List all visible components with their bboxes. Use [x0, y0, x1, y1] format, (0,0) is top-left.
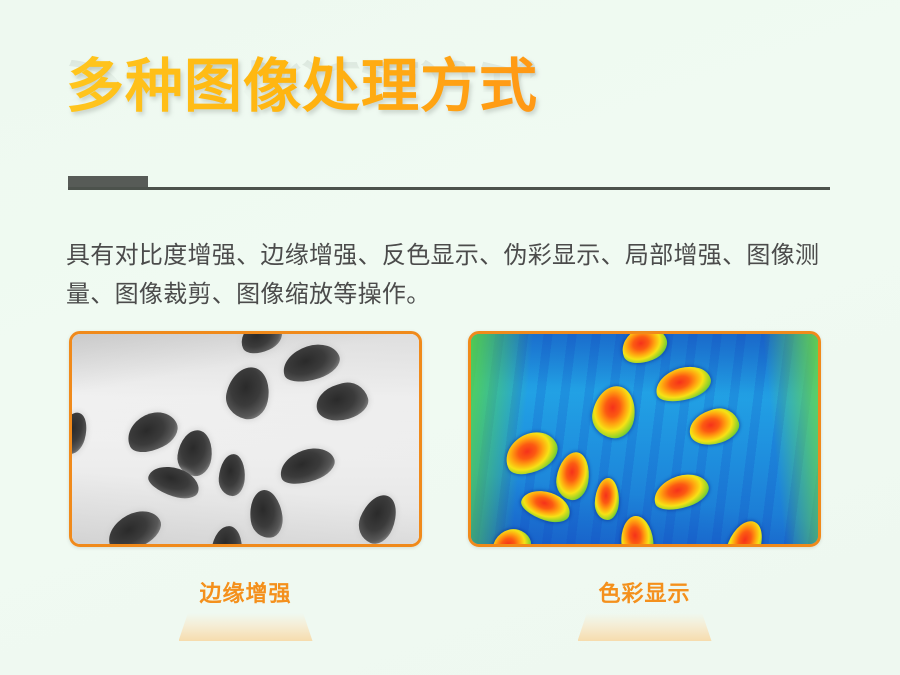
- divider: [68, 176, 830, 190]
- title-block: 多种图像处理方式 多种图像处理方式: [66, 54, 766, 174]
- divider-accent-block: [68, 176, 148, 187]
- image-card-color-display: [468, 331, 821, 547]
- slide-canvas: 多种图像处理方式 多种图像处理方式 具有对比度增强、边缘增强、反色显示、伪彩显示…: [0, 0, 900, 675]
- caption-edge-enhance-base: [179, 613, 313, 641]
- caption-color-display: 色彩显示: [468, 580, 821, 641]
- divider-rule: [68, 187, 830, 190]
- edge-enhanced-seed-image: [72, 334, 419, 544]
- caption-color-display-base: [578, 613, 712, 641]
- body-paragraph: 具有对比度增强、边缘增强、反色显示、伪彩显示、局部增强、图像测量、图像裁剪、图像…: [66, 236, 846, 314]
- page-title: 多种图像处理方式: [66, 54, 766, 120]
- caption-edge-enhance: 边缘增强: [69, 580, 422, 641]
- image-card-edge-enhance: [69, 331, 422, 547]
- caption-edge-enhance-label: 边缘增强: [69, 580, 422, 608]
- caption-color-display-label: 色彩显示: [468, 580, 821, 608]
- pseudo-color-seed-image: [471, 334, 818, 544]
